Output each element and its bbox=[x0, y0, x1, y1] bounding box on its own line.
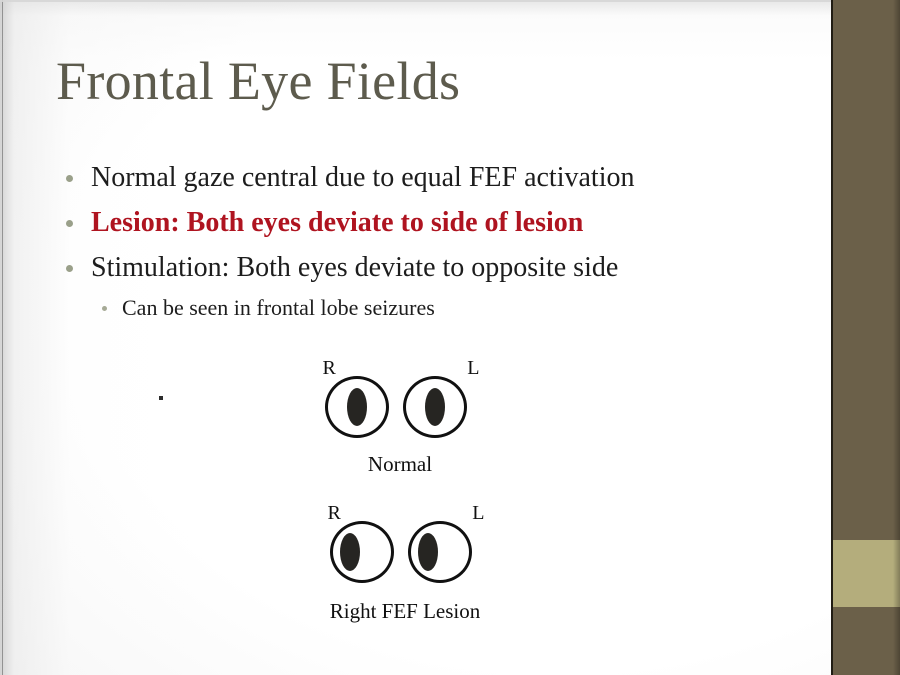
sub-bullet-dot-icon bbox=[102, 306, 107, 311]
page-title: Frontal Eye Fields bbox=[56, 52, 460, 111]
eye-diagram-right-fef-lesion: R L Right FEF Lesion bbox=[300, 503, 510, 625]
bullet-dot-icon bbox=[66, 175, 73, 182]
sub-bullet-item-seizures: Can be seen in frontal lobe seizures bbox=[102, 294, 786, 322]
eye-label-left: L bbox=[472, 503, 484, 523]
eye-diagram-normal: R L Normal bbox=[300, 358, 500, 478]
top-edge-rule bbox=[0, 0, 831, 2]
bullet-text: Normal gaze central due to equal FEF act… bbox=[91, 160, 634, 196]
pupil-right-icon bbox=[347, 388, 367, 426]
pupil-left-icon bbox=[425, 388, 445, 426]
pupil-left-icon bbox=[418, 533, 438, 571]
pupil-right-icon bbox=[340, 533, 360, 571]
eyeball-right bbox=[330, 521, 394, 583]
eye-label-right: R bbox=[323, 358, 336, 378]
sidebar-accent-block bbox=[833, 540, 900, 607]
sub-bullet-text: Can be seen in frontal lobe seizures bbox=[122, 294, 435, 322]
sidebar-shading bbox=[893, 0, 900, 675]
bullet-item-normal-gaze: Normal gaze central due to equal FEF act… bbox=[66, 160, 786, 196]
eye-label-right: R bbox=[328, 503, 341, 523]
bullet-dot-icon bbox=[66, 265, 73, 272]
slide-canvas: Frontal Eye Fields Normal gaze central d… bbox=[0, 0, 900, 675]
eyeball-left bbox=[408, 521, 472, 583]
decorative-sidebar bbox=[831, 0, 900, 675]
eye-label-left: L bbox=[467, 358, 479, 378]
bullet-item-stimulation: Stimulation: Both eyes deviate to opposi… bbox=[66, 250, 786, 286]
bullet-item-lesion: Lesion: Both eyes deviate to side of les… bbox=[66, 205, 786, 241]
eye-pair: R L bbox=[318, 503, 493, 589]
bullet-list: Normal gaze central due to equal FEF act… bbox=[66, 160, 786, 322]
bullet-text: Stimulation: Both eyes deviate to opposi… bbox=[91, 250, 618, 286]
left-edge-rule bbox=[2, 0, 3, 675]
eyeball-right bbox=[325, 376, 389, 438]
bullet-text-emphasis: Lesion: Both eyes deviate to side of les… bbox=[91, 205, 583, 241]
stray-dot-artifact bbox=[159, 396, 163, 400]
diagram-caption: Right FEF Lesion bbox=[300, 599, 510, 624]
eye-pair: R L bbox=[313, 358, 488, 444]
bullet-dot-icon bbox=[66, 220, 73, 227]
diagram-caption: Normal bbox=[300, 452, 500, 477]
eyeball-left bbox=[403, 376, 467, 438]
